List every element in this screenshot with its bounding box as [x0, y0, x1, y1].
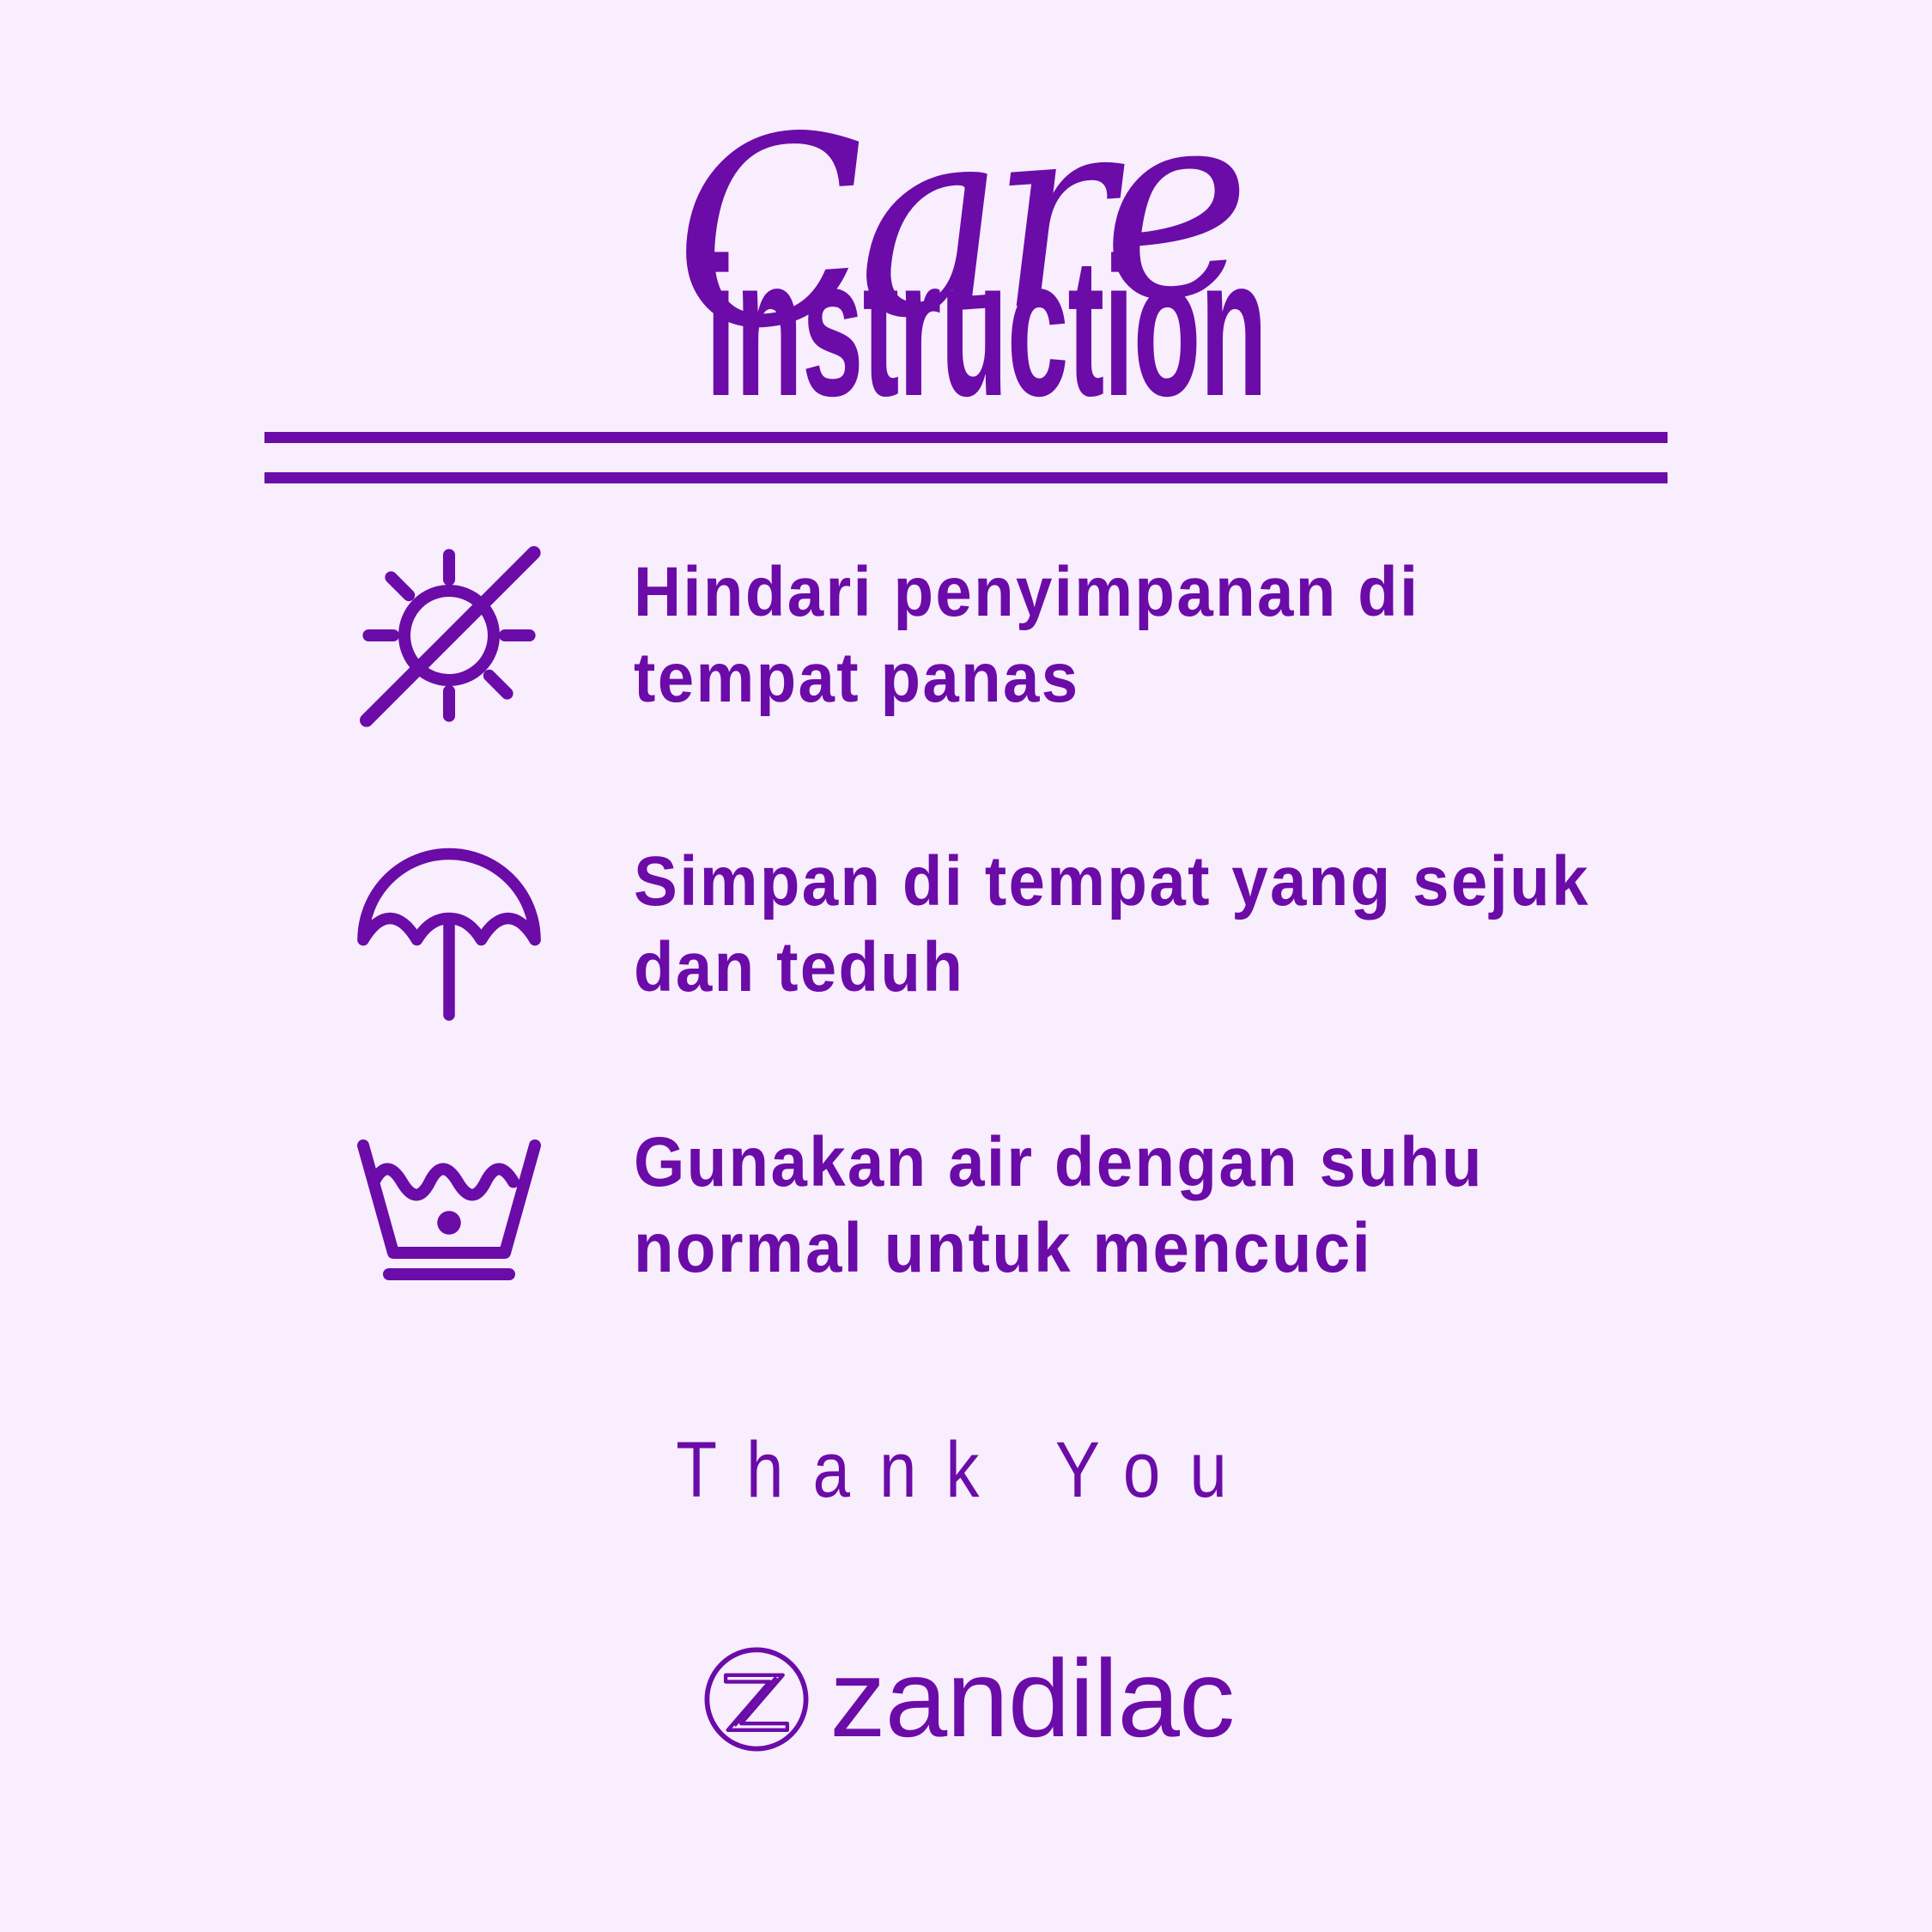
thank-you-text: Thank You: [145, 1425, 1788, 1516]
instruction-row: Hindari penyimpanan di tempat panas: [264, 524, 1724, 747]
umbrella-icon: [264, 817, 634, 1032]
zandilac-z-monogram-icon: [702, 1644, 811, 1754]
divider-line-bottom: [264, 472, 1668, 483]
care-instruction-card: Care instruction Hindari peny: [0, 0, 1932, 1932]
brand-logo: zandilac: [0, 1644, 1932, 1754]
instruction-row: Simpan di tempat yang sejuk dan teduh: [264, 817, 1724, 1032]
instruction-text: Simpan di tempat yang sejuk dan teduh: [634, 839, 1592, 1011]
title-script-word: Care: [665, 73, 1246, 369]
divider-group: [264, 432, 1668, 483]
wash-basin-icon: [264, 1120, 634, 1291]
brand-name: zandilac: [830, 1644, 1235, 1754]
instruction-row: Gunakan air dengan suhu normal untuk men…: [264, 1103, 1724, 1309]
instruction-text: Hindari penyimpanan di tempat panas: [634, 550, 1592, 721]
no-sun-icon: [264, 524, 634, 747]
page-title: Care instruction: [0, 101, 1932, 385]
instruction-list: Hindari penyimpanan di tempat panas Simp…: [264, 524, 1724, 1379]
instruction-text: Gunakan air dengan suhu normal untuk men…: [634, 1120, 1592, 1291]
